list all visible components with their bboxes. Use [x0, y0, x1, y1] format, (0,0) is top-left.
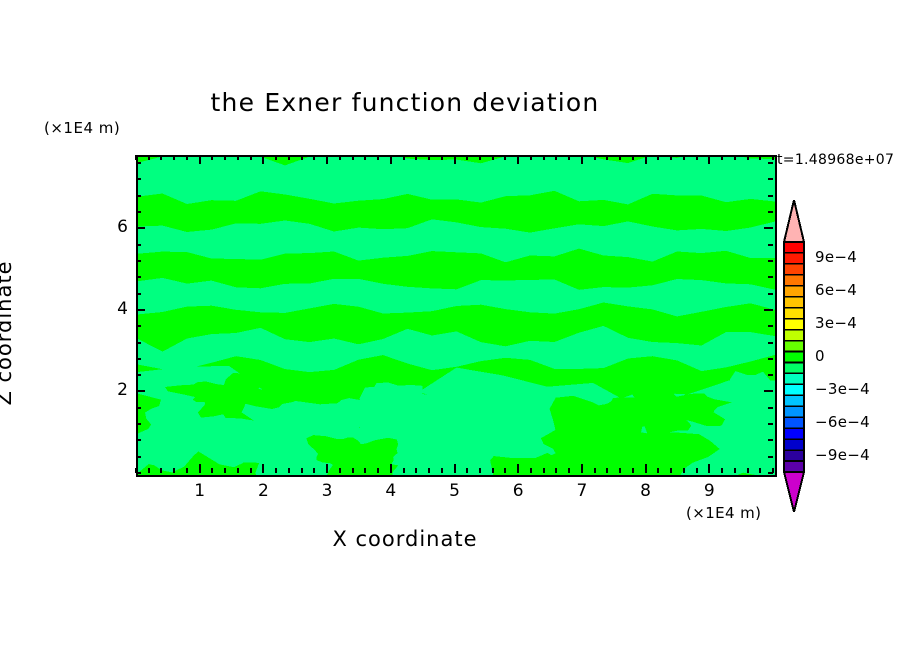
x-tick-major — [326, 464, 328, 473]
x-axis-units-label: (×1E4 m) — [686, 504, 761, 522]
x-tick-label: 9 — [694, 481, 724, 501]
x-tick-minor-top — [186, 155, 188, 160]
x-tick-minor — [313, 468, 315, 473]
y-tick-minor-right — [768, 342, 773, 344]
x-tick-minor — [632, 468, 634, 473]
x-tick-minor-top — [632, 155, 634, 160]
colorbar-band — [784, 461, 804, 472]
x-tick-minor-top — [530, 155, 532, 160]
x-tick-minor — [211, 468, 213, 473]
x-tick-minor-top — [148, 155, 150, 160]
x-tick-label: 3 — [312, 481, 342, 501]
y-tick-minor-right — [768, 374, 773, 376]
colorbar-band — [784, 286, 804, 297]
y-tick-major-right — [764, 227, 773, 229]
x-tick-minor — [670, 468, 672, 473]
x-tick-minor-top — [504, 155, 506, 160]
colorbar-band — [784, 264, 804, 275]
colorbar-band — [784, 253, 804, 264]
y-tick-minor — [136, 456, 141, 458]
x-tick-minor — [759, 468, 761, 473]
colorbar-over-arrow — [784, 200, 804, 242]
x-tick-minor — [747, 468, 749, 473]
x-tick-major-top — [262, 155, 264, 164]
x-tick-minor-top — [657, 155, 659, 160]
x-tick-minor — [492, 468, 494, 473]
colorbar-band — [784, 330, 804, 341]
colorbar-band — [784, 308, 804, 319]
x-tick-major-top — [708, 155, 710, 164]
x-tick-minor — [555, 468, 557, 473]
x-tick-major — [262, 464, 264, 473]
colorbar-band — [784, 362, 804, 373]
colorbar-band — [784, 297, 804, 308]
x-tick-minor-top — [466, 155, 468, 160]
x-tick-minor-top — [479, 155, 481, 160]
x-tick-minor — [148, 468, 150, 473]
x-tick-minor-top — [428, 155, 430, 160]
y-tick-minor-right — [768, 358, 773, 360]
y-tick-minor — [136, 342, 141, 344]
x-tick-minor-top — [568, 155, 570, 160]
x-tick-minor-top — [492, 155, 494, 160]
y-tick-major — [136, 227, 145, 229]
x-tick-minor — [441, 468, 443, 473]
x-tick-minor — [504, 468, 506, 473]
y-tick-minor-right — [768, 456, 773, 458]
y-tick-minor-right — [768, 211, 773, 213]
x-tick-minor — [250, 468, 252, 473]
x-tick-minor — [466, 468, 468, 473]
y-tick-minor — [136, 195, 141, 197]
colorbar-tick-label: −3e−4 — [815, 380, 870, 398]
x-tick-minor — [364, 468, 366, 473]
y-tick-minor-right — [768, 472, 773, 474]
x-tick-minor-top — [683, 155, 685, 160]
x-tick-major-top — [390, 155, 392, 164]
y-tick-major — [136, 390, 145, 392]
x-tick-minor-top — [339, 155, 341, 160]
x-tick-minor — [403, 468, 405, 473]
x-tick-minor-top — [415, 155, 417, 160]
x-tick-label: 4 — [376, 481, 406, 501]
x-tick-minor — [160, 468, 162, 473]
x-tick-minor — [594, 468, 596, 473]
y-tick-major-right — [764, 309, 773, 311]
y-tick-minor-right — [768, 244, 773, 246]
y-tick-minor-right — [768, 423, 773, 425]
x-tick-minor-top — [173, 155, 175, 160]
y-tick-minor-right — [768, 407, 773, 409]
x-tick-minor — [428, 468, 430, 473]
x-tick-minor-top — [301, 155, 303, 160]
y-tick-minor-right — [768, 325, 773, 327]
x-tick-minor — [530, 468, 532, 473]
x-tick-minor-top — [696, 155, 698, 160]
colorbar-tick-label: 6e−4 — [815, 281, 857, 299]
x-tick-minor — [237, 468, 239, 473]
x-tick-minor — [657, 468, 659, 473]
x-tick-minor-top — [288, 155, 290, 160]
colorbar-band — [784, 417, 804, 428]
x-tick-major-top — [454, 155, 456, 164]
colorbar-band — [784, 319, 804, 330]
y-tick-minor — [136, 423, 141, 425]
y-tick-minor-right — [768, 162, 773, 164]
x-tick-minor-top — [772, 155, 774, 160]
x-tick-minor-top — [555, 155, 557, 160]
colorbar-band — [784, 275, 804, 286]
y-tick-label: 6 — [98, 217, 128, 237]
y-tick-minor — [136, 244, 141, 246]
x-tick-minor-top — [759, 155, 761, 160]
y-tick-minor-right — [768, 293, 773, 295]
x-tick-minor — [275, 468, 277, 473]
x-tick-major — [390, 464, 392, 473]
y-tick-major-right — [764, 390, 773, 392]
colorbar-swatches — [781, 198, 807, 515]
y-tick-minor — [136, 211, 141, 213]
colorbar — [781, 198, 807, 515]
colorbar-band — [784, 242, 804, 253]
x-tick-minor — [339, 468, 341, 473]
contour-field — [138, 157, 775, 475]
colorbar-band — [784, 406, 804, 417]
x-tick-minor-top — [670, 155, 672, 160]
x-tick-major-top — [517, 155, 519, 164]
x-tick-minor-top — [734, 155, 736, 160]
colorbar-band — [784, 341, 804, 352]
x-tick-minor-top — [211, 155, 213, 160]
colorbar-band — [784, 395, 804, 406]
y-axis-title: Z coordinate — [0, 233, 16, 433]
x-tick-minor — [721, 468, 723, 473]
x-tick-minor — [619, 468, 621, 473]
x-tick-major — [581, 464, 583, 473]
y-tick-minor — [136, 439, 141, 441]
x-tick-minor — [734, 468, 736, 473]
x-tick-minor-top — [721, 155, 723, 160]
x-tick-minor-top — [224, 155, 226, 160]
colorbar-tick-label: 9e−4 — [815, 248, 857, 266]
x-tick-minor — [415, 468, 417, 473]
y-tick-minor — [136, 358, 141, 360]
x-tick-minor — [352, 468, 354, 473]
y-tick-minor — [136, 407, 141, 409]
y-tick-minor — [136, 293, 141, 295]
y-tick-minor — [136, 472, 141, 474]
y-tick-minor-right — [768, 276, 773, 278]
x-tick-minor-top — [441, 155, 443, 160]
page-title: the Exner function deviation — [0, 88, 857, 117]
x-tick-major-top — [326, 155, 328, 164]
colorbar-tick-label: −6e−4 — [815, 413, 870, 431]
y-tick-minor-right — [768, 439, 773, 441]
x-tick-major — [645, 464, 647, 473]
x-tick-minor — [606, 468, 608, 473]
y-tick-minor — [136, 260, 141, 262]
x-tick-major — [517, 464, 519, 473]
x-tick-minor — [173, 468, 175, 473]
colorbar-under-arrow — [784, 472, 804, 512]
x-tick-minor — [288, 468, 290, 473]
y-tick-label: 2 — [98, 380, 128, 400]
y-tick-minor-right — [768, 195, 773, 197]
y-axis-units-label: (×1E4 m) — [44, 119, 120, 137]
x-tick-minor-top — [160, 155, 162, 160]
y-tick-minor-right — [768, 178, 773, 180]
y-tick-minor-right — [768, 260, 773, 262]
colorbar-band — [784, 373, 804, 384]
x-tick-label: 1 — [185, 481, 215, 501]
x-tick-minor-top — [135, 155, 137, 160]
y-tick-major — [136, 309, 145, 311]
y-tick-minor — [136, 178, 141, 180]
x-tick-label: 7 — [567, 481, 597, 501]
colorbar-tick-label: 0 — [815, 347, 825, 365]
x-tick-label: 5 — [440, 481, 470, 501]
plot-area — [136, 155, 777, 477]
y-tick-minor — [136, 162, 141, 164]
y-tick-minor — [136, 276, 141, 278]
x-tick-minor — [479, 468, 481, 473]
x-tick-minor-top — [747, 155, 749, 160]
x-tick-minor-top — [352, 155, 354, 160]
x-tick-minor — [568, 468, 570, 473]
x-tick-minor-top — [275, 155, 277, 160]
x-tick-label: 2 — [248, 481, 278, 501]
x-tick-minor — [543, 468, 545, 473]
x-tick-major — [708, 464, 710, 473]
y-tick-minor — [136, 325, 141, 327]
x-tick-major — [199, 464, 201, 473]
x-tick-minor — [186, 468, 188, 473]
x-tick-minor — [696, 468, 698, 473]
x-tick-minor-top — [606, 155, 608, 160]
colorbar-tick-label: 3e−4 — [815, 314, 857, 332]
colorbar-band — [784, 439, 804, 450]
x-tick-minor — [224, 468, 226, 473]
x-tick-minor-top — [250, 155, 252, 160]
x-tick-minor-top — [619, 155, 621, 160]
x-tick-minor-top — [403, 155, 405, 160]
x-tick-major-top — [645, 155, 647, 164]
x-tick-minor — [683, 468, 685, 473]
x-tick-minor-top — [594, 155, 596, 160]
colorbar-band — [784, 352, 804, 363]
x-tick-label: 6 — [503, 481, 533, 501]
x-tick-minor — [301, 468, 303, 473]
colorbar-band — [784, 428, 804, 439]
y-tick-label: 4 — [98, 299, 128, 319]
x-tick-minor-top — [543, 155, 545, 160]
colorbar-band — [784, 450, 804, 461]
x-tick-minor — [377, 468, 379, 473]
x-tick-major-top — [199, 155, 201, 164]
colorbar-band — [784, 384, 804, 395]
x-tick-minor-top — [377, 155, 379, 160]
y-tick-minor — [136, 374, 141, 376]
x-tick-label: 8 — [631, 481, 661, 501]
x-tick-minor-top — [364, 155, 366, 160]
x-tick-minor-top — [313, 155, 315, 160]
x-tick-major-top — [581, 155, 583, 164]
colorbar-tick-label: −9e−4 — [815, 446, 870, 464]
time-annotation: t=1.48968e+07 — [777, 152, 894, 168]
x-axis-title: X coordinate — [0, 527, 857, 551]
x-tick-major — [454, 464, 456, 473]
x-tick-minor-top — [237, 155, 239, 160]
